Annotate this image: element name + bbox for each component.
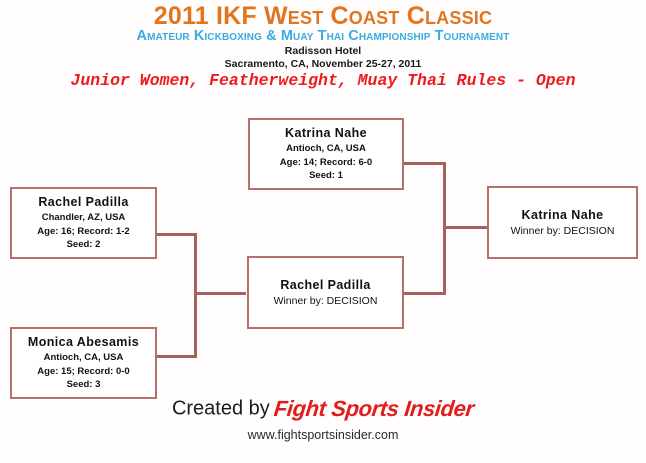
created-by-line: Created by Fight Sports Insider (0, 396, 646, 422)
competitor-name: Monica Abesamis (28, 334, 139, 351)
bracket-page: 2011 IKF West Coast Classic Amateur Kick… (0, 0, 646, 463)
final-winner-name: Katrina Nahe (522, 207, 604, 224)
competitor-hometown: Antioch, CA, USA (44, 351, 124, 365)
venue-location-date: Sacramento, CA, November 25-27, 2011 (0, 58, 646, 70)
connector-r2-semifinal-horizontal (404, 292, 446, 295)
event-title: 2011 IKF West Coast Classic (0, 2, 646, 31)
connector-r2-to-final (443, 226, 488, 229)
final-result-box[interactable]: Katrina Nahe Winner by: DECISION (487, 186, 638, 259)
semifinal-result-box[interactable]: Rachel Padilla Winner by: DECISION (247, 256, 404, 329)
semifinal-winner-name: Rachel Padilla (280, 277, 370, 294)
competitor-stats: Age: 15; Record: 0-0 (37, 365, 129, 379)
event-subtitle: Amateur Kickboxing & Muay Thai Champions… (0, 28, 646, 44)
competitor-stats: Age: 16; Record: 1-2 (37, 225, 129, 239)
connector-r1-abesamis-horizontal (156, 355, 197, 358)
competitor-box-padilla[interactable]: Rachel Padilla Chandler, AZ, USA Age: 16… (10, 187, 157, 259)
competitor-name: Rachel Padilla (38, 194, 128, 211)
connector-r1-padilla-horizontal (156, 233, 197, 236)
competitor-seed: Seed: 1 (309, 169, 343, 183)
website-url[interactable]: www.fightsportsinsider.com (0, 428, 646, 442)
created-by-label: Created by (172, 398, 270, 420)
final-winner-result: Winner by: DECISION (511, 224, 615, 239)
competitor-hometown: Antioch, CA, USA (286, 142, 366, 156)
competitor-name: Katrina Nahe (285, 125, 367, 142)
competitor-box-nahe[interactable]: Katrina Nahe Antioch, CA, USA Age: 14; R… (248, 118, 404, 190)
competitor-hometown: Chandler, AZ, USA (42, 211, 126, 225)
semifinal-winner-result: Winner by: DECISION (274, 294, 378, 309)
connector-r1-to-semifinal (194, 292, 246, 295)
division-title: Junior Women, Featherweight, Muay Thai R… (0, 71, 646, 90)
brand-logo-text: Fight Sports Insider (273, 396, 476, 422)
connector-r1-vertical (194, 233, 197, 358)
competitor-seed: Seed: 2 (67, 238, 101, 252)
competitor-stats: Age: 14; Record: 6-0 (280, 156, 372, 170)
competitor-box-abesamis[interactable]: Monica Abesamis Antioch, CA, USA Age: 15… (10, 327, 157, 399)
competitor-seed: Seed: 3 (67, 378, 101, 392)
venue-name: Radisson Hotel (0, 45, 646, 57)
connector-r2-nahe-horizontal (404, 162, 446, 165)
